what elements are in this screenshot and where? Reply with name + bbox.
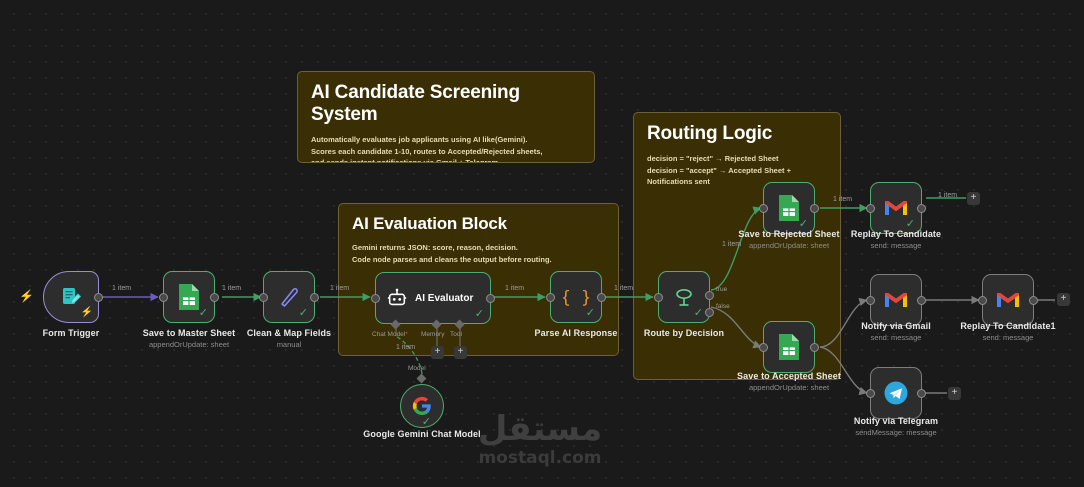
node-label-save-to-rejected-sheet: Save to Rejected Sheet: [729, 229, 849, 239]
gmail-icon: [883, 290, 909, 310]
port-out-save-to-accepted-sheet[interactable]: [810, 343, 819, 352]
port-out-notify-via-telegram[interactable]: [917, 389, 926, 398]
sub-connection-label-model: Model: [408, 365, 426, 372]
node-google-gemini-chat-model[interactable]: ✓: [400, 384, 444, 428]
port-in-save-to-master-sheet[interactable]: [159, 293, 168, 302]
node-subtitle-notify-via-telegram: sendMessage: message: [836, 428, 956, 437]
node-subtitle-notify-via-gmail: send: message: [836, 333, 956, 342]
port-in-notify-via-telegram[interactable]: [866, 389, 875, 398]
node-label-route-by-decision: Route by Decision: [624, 328, 744, 338]
port-out-route-false[interactable]: [705, 308, 714, 317]
node-subtitle-clean-and-map-fields: manual: [229, 340, 349, 349]
node-subtitle-save-to-accepted-sheet: appendOrUpdate: sheet: [729, 383, 849, 392]
port-out-save-to-rejected-sheet[interactable]: [810, 204, 819, 213]
status-check-icon: ✓: [475, 309, 484, 320]
node-label-ai-evaluator: AI Evaluator: [415, 293, 473, 304]
add-node-button-after-replay-to-candidate-1[interactable]: +: [1057, 293, 1070, 306]
gmail-icon: [995, 290, 1021, 310]
node-route-by-decision[interactable]: ✓: [658, 271, 710, 323]
node-save-to-master-sheet[interactable]: ✓: [163, 271, 215, 323]
node-notify-via-telegram[interactable]: [870, 367, 922, 419]
subport-label-tool: Tool: [450, 331, 462, 338]
edge-label-replay-out: 1 item: [938, 192, 957, 199]
port-tag-true: true: [716, 286, 727, 293]
port-in-replay-to-candidate-1[interactable]: [978, 296, 987, 305]
watermark: مستقل mostaql.com: [455, 412, 625, 468]
form-trigger-icon: [59, 285, 83, 309]
node-ai-evaluator[interactable]: AI Evaluator ✓: [375, 272, 491, 324]
node-label-notify-via-telegram: Notify via Telegram: [836, 416, 956, 426]
status-check-icon: ✓: [586, 308, 595, 319]
port-out-replay-to-candidate-1[interactable]: [1029, 296, 1038, 305]
gmail-icon: [883, 198, 909, 218]
edge-label-model-to-agent: 1 item: [396, 344, 415, 351]
port-in-parse-ai-response[interactable]: [546, 293, 555, 302]
port-out-save-to-master-sheet[interactable]: [210, 293, 219, 302]
port-out-replay-to-candidate[interactable]: [917, 204, 926, 213]
edge-label-route-true-to-rejected: 1 item: [722, 241, 741, 248]
port-out-route-true[interactable]: [705, 291, 714, 300]
port-out-parse-ai-response[interactable]: [597, 293, 606, 302]
trigger-bolt-icon: ⚡: [19, 290, 34, 302]
node-label-replay-to-candidate-1: Replay To Candidate1: [948, 321, 1068, 331]
node-notify-via-gmail[interactable]: [870, 274, 922, 326]
telegram-icon: [882, 379, 910, 407]
port-out-notify-via-gmail[interactable]: [917, 296, 926, 305]
status-check-icon: ✓: [199, 308, 208, 319]
port-out-ai-evaluator[interactable]: [486, 294, 495, 303]
port-in-save-to-accepted-sheet[interactable]: [759, 343, 768, 352]
port-in-notify-via-gmail[interactable]: [866, 296, 875, 305]
node-subtitle-replay-to-candidate: send: message: [836, 241, 956, 250]
node-subtitle-save-to-rejected-sheet: appendOrUpdate: sheet: [729, 241, 849, 250]
add-memory-button[interactable]: +: [431, 346, 444, 359]
node-replay-to-candidate[interactable]: ✓: [870, 182, 922, 234]
node-label-save-to-accepted-sheet: Save to Accepted Sheet: [729, 371, 849, 381]
google-gemini-icon: [411, 395, 433, 417]
add-node-button-after-replay-to-candidate[interactable]: +: [967, 192, 980, 205]
ai-agent-robot-icon: [386, 287, 408, 309]
node-save-to-rejected-sheet[interactable]: ✓: [763, 182, 815, 234]
edge-label-agent-to-parse: 1 item: [505, 285, 524, 292]
port-in-ai-evaluator[interactable]: [371, 294, 380, 303]
add-tool-button[interactable]: +: [454, 346, 467, 359]
port-out-clean-and-map-fields[interactable]: [310, 293, 319, 302]
svg-text:{ }: { }: [563, 288, 589, 308]
google-sheets-icon: [776, 333, 802, 361]
watermark-latin: mostaql.com: [455, 448, 625, 468]
subport-label-memory: Memory: [421, 331, 444, 338]
node-label-clean-and-map-fields: Clean & Map Fields: [229, 328, 349, 338]
node-form-trigger[interactable]: ⚡: [43, 271, 99, 323]
port-tag-false: false: [716, 303, 730, 310]
edge-label-trigger-to-master: 1 item: [112, 285, 131, 292]
edge-label-parse-to-route: 1 item: [614, 285, 633, 292]
port-in-save-to-rejected-sheet[interactable]: [759, 204, 768, 213]
trigger-lightning-icon: ⚡: [81, 308, 93, 318]
node-label-parse-ai-response: Parse AI Response: [516, 328, 636, 338]
port-in-replay-to-candidate[interactable]: [866, 204, 875, 213]
port-out-form-trigger[interactable]: [94, 293, 103, 302]
edge-label-clean-to-agent: 1 item: [330, 285, 349, 292]
node-subtitle-replay-to-candidate-1: send: message: [948, 333, 1068, 342]
edge-label-master-to-clean: 1 item: [222, 285, 241, 292]
status-check-icon: ✓: [299, 308, 308, 319]
node-replay-to-candidate-1[interactable]: [982, 274, 1034, 326]
node-save-to-accepted-sheet[interactable]: [763, 321, 815, 373]
workflow-canvas[interactable]: AI Candidate Screening System Automatica…: [0, 0, 1084, 487]
status-check-icon: ✓: [422, 417, 431, 428]
subport-label-chat-model: Chat Model*: [372, 331, 408, 338]
add-node-button-after-telegram[interactable]: +: [948, 387, 961, 400]
status-check-icon: ✓: [694, 308, 703, 319]
node-label-replay-to-candidate: Replay To Candidate: [836, 229, 956, 239]
port-in-route-by-decision[interactable]: [654, 293, 663, 302]
watermark-arabic: مستقل: [455, 412, 625, 446]
port-in-clean-and-map-fields[interactable]: [259, 293, 268, 302]
edge-label-rejected-to-replay: 1 item: [833, 196, 852, 203]
node-label-form-trigger: Form Trigger: [13, 328, 129, 338]
node-label-notify-via-gmail: Notify via Gmail: [836, 321, 956, 331]
node-parse-ai-response[interactable]: { } ✓: [550, 271, 602, 323]
node-clean-and-map-fields[interactable]: ✓: [263, 271, 315, 323]
